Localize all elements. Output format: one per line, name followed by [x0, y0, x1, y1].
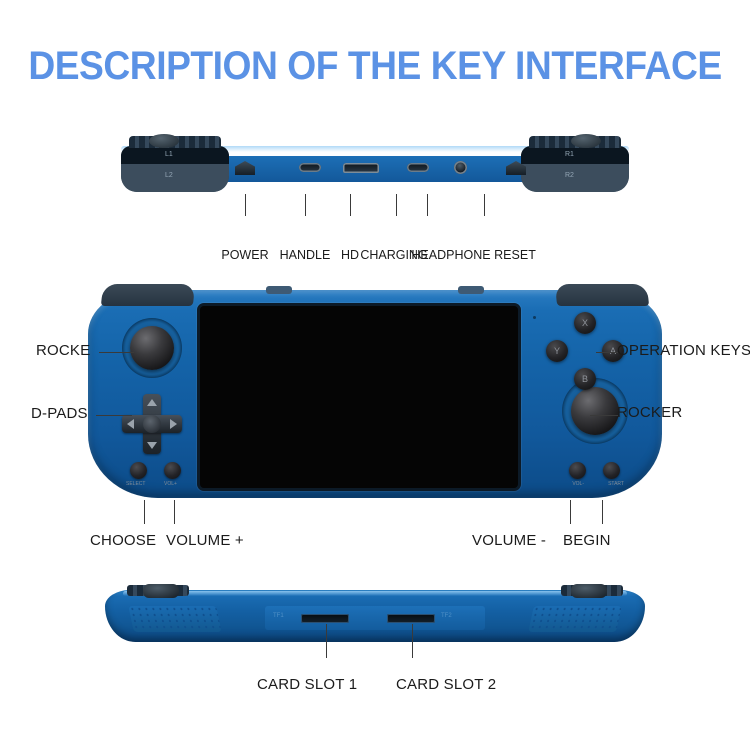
leader-operation-keys [596, 352, 618, 353]
select-button-cap: SELECT [126, 481, 145, 487]
leader-volume-down [570, 500, 571, 524]
sensor-dot [533, 316, 536, 319]
stick-knob-right-top [571, 134, 601, 148]
charging-port [407, 163, 429, 172]
callout-rocker-right: ROCKER [617, 406, 682, 420]
shoulder-left-l1 [121, 146, 229, 164]
card-slot-2[interactable] [387, 614, 435, 623]
leader-rocker-right [590, 415, 618, 416]
callout-card-slot-2: CARD SLOT 2 [396, 678, 496, 692]
shoulder-right-r1 [521, 146, 629, 164]
volume-down-button-cap: VOL- [572, 481, 584, 487]
volume-up-button-cap: VOL+ [164, 481, 177, 487]
card-slot-1[interactable] [301, 614, 349, 623]
speaker-grille-right [528, 606, 622, 632]
leader-reset-key [484, 194, 485, 216]
shoulder-left-top: L1 L2 [121, 146, 229, 192]
d-pad[interactable] [122, 394, 182, 454]
callout-begin: BEGIN [563, 534, 611, 548]
button-x[interactable]: X [574, 312, 596, 334]
r1-label: R1 [565, 151, 574, 158]
leader-card-slot-2 [412, 624, 413, 658]
d-pad-center [143, 415, 161, 433]
leader-power-key [245, 194, 246, 216]
callout-card-slot-1: CARD SLOT 1 [257, 678, 357, 692]
leader-begin [602, 500, 603, 524]
d-pad-up-icon [147, 399, 157, 406]
stick-knob-right-bottom [571, 584, 607, 598]
callout-headphone-jack-line1: HEADPHONE [410, 248, 492, 262]
front-device-view: X Y A B SELECT VOL+ VOL- START [88, 282, 662, 500]
leader-handle-interface [305, 194, 306, 216]
volume-down-button[interactable] [569, 462, 586, 479]
bottom-edge-highlight [123, 591, 627, 596]
callout-volume-up: VOLUME + [166, 534, 244, 548]
leader-d-pads [96, 415, 132, 416]
select-button[interactable] [130, 462, 147, 479]
callout-reset-key-line1: RESET [487, 248, 543, 262]
callout-rocker-left: ROCKE [36, 344, 90, 358]
d-pad-left-icon [127, 419, 134, 429]
leader-charging-port [396, 194, 397, 216]
volume-up-button[interactable] [164, 462, 181, 479]
shoulder-right-front [555, 284, 649, 306]
headphone-jack [454, 161, 467, 174]
start-button-cap: START [608, 481, 624, 487]
mini-button-right[interactable] [458, 286, 484, 294]
bottom-edge-panel [265, 606, 485, 630]
callout-choose: CHOOSE [90, 534, 156, 548]
top-edge-device-view: L1 L2 R1 R2 [105, 134, 645, 196]
callout-operation-keys: OPERATION KEYS [617, 344, 750, 358]
shoulder-right-r2 [521, 164, 629, 192]
start-button[interactable] [603, 462, 620, 479]
leader-choose [144, 500, 145, 524]
mini-button-left[interactable] [266, 286, 292, 294]
d-pad-right-icon [170, 419, 177, 429]
page-title: DESCRIPTION OF THE KEY INTERFACE [26, 44, 724, 89]
l1-label: L1 [165, 151, 173, 158]
stick-knob-left-top [149, 134, 179, 148]
shoulder-left-front [101, 284, 195, 306]
stick-knob-left-bottom [143, 584, 179, 598]
r2-label: R2 [565, 172, 574, 179]
callout-d-pads: D-PADS [31, 407, 88, 421]
hd-port [343, 163, 379, 173]
leader-hd-port [350, 194, 351, 216]
front-top-notch [266, 282, 484, 298]
shoulder-left-l2 [121, 164, 229, 192]
operation-keys-cluster: X Y A B [546, 312, 624, 390]
analog-stick-right-cap [571, 387, 619, 435]
speaker-grille-left [128, 606, 222, 632]
analog-stick-left[interactable] [122, 318, 182, 378]
button-b[interactable]: B [574, 368, 596, 390]
leader-rocker-left [99, 352, 134, 353]
callout-volume-down: VOLUME - [472, 534, 546, 548]
d-pad-down-icon [147, 442, 157, 449]
handle-interface-port [299, 163, 321, 172]
l2-label: L2 [165, 172, 173, 179]
diagram-page: DESCRIPTION OF THE KEY INTERFACE L1 L2 R… [0, 0, 750, 750]
button-y[interactable]: Y [546, 340, 568, 362]
shoulder-right-top: R1 R2 [521, 146, 629, 192]
analog-stick-left-cap [130, 326, 174, 370]
leader-volume-up [174, 500, 175, 524]
card-slot-1-tag: TF1 [273, 613, 284, 619]
leader-card-slot-1 [326, 624, 327, 658]
device-screen [200, 306, 518, 488]
leader-headphone-jack [427, 194, 428, 216]
card-slot-2-tag: TF2 [441, 613, 452, 619]
bottom-edge-device-view: TF1 TF2 [105, 584, 645, 646]
